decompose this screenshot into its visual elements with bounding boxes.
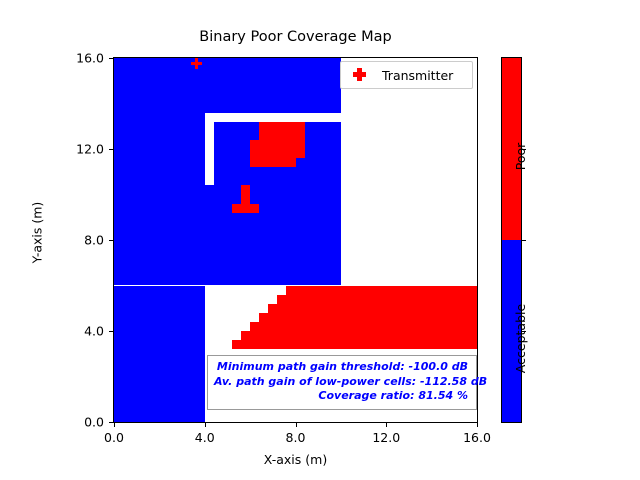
- x-axis-tick-label: 8.0: [286, 430, 306, 445]
- x-axis-tick-label: 4.0: [195, 430, 215, 445]
- coverage-cell-acceptable: [114, 113, 205, 186]
- y-axis-tick: [109, 58, 113, 59]
- colorbar-boundary-tick: [522, 240, 526, 241]
- coverage-cell-acceptable: [114, 286, 205, 423]
- y-axis-tick: [109, 331, 113, 332]
- coverage-cell-poor: [250, 140, 304, 158]
- x-axis-tick: [477, 423, 478, 427]
- x-axis-tick: [114, 423, 115, 427]
- coverage-cell-poor: [268, 304, 477, 313]
- annotation-line-threshold: Minimum path gain threshold: -100.0 dB: [214, 360, 468, 375]
- legend: Transmitter: [340, 61, 473, 89]
- annotation-line-coverage-ratio: Coverage ratio: 81.54 %: [214, 389, 468, 404]
- transmitter-marker: [191, 58, 202, 69]
- coverage-cell-poor: [241, 185, 250, 203]
- y-axis-tick: [109, 149, 113, 150]
- coverage-cell-acceptable: [114, 185, 341, 276]
- y-axis-tick-label: 4.0: [60, 324, 104, 339]
- y-axis-tick: [109, 422, 113, 423]
- coverage-cell-poor: [241, 331, 477, 340]
- coverage-cell-poor: [250, 322, 477, 331]
- x-axis-label: X-axis (m): [113, 452, 478, 467]
- page-title: Binary Poor Coverage Map: [113, 29, 478, 45]
- coverage-cell-acceptable: [114, 58, 341, 113]
- chart-figure: Binary Poor Coverage Map Transmitter Min…: [0, 0, 640, 480]
- y-axis-tick: [109, 240, 113, 241]
- coverage-cell-poor: [259, 122, 304, 140]
- coverage-cell-poor: [259, 313, 477, 322]
- y-axis-label: Y-axis (m): [30, 133, 45, 333]
- colorbar-tick-label: Acceptable: [513, 304, 528, 373]
- x-axis-tick-label: 0.0: [104, 430, 124, 445]
- x-axis-tick: [386, 423, 387, 427]
- coverage-cell-poor: [232, 340, 477, 349]
- x-axis-tick: [205, 423, 206, 427]
- coverage-cell-poor: [232, 204, 259, 213]
- legend-item-label: Transmitter: [382, 68, 453, 83]
- coverage-cell-poor: [250, 158, 295, 167]
- y-axis-tick-label: 0.0: [60, 415, 104, 430]
- coverage-cell-acceptable: [114, 276, 341, 285]
- coverage-cell-poor: [277, 295, 477, 304]
- y-axis-tick-label: 8.0: [60, 233, 104, 248]
- annotation-line-avg-gain: Av. path gain of low-power cells: -112.5…: [214, 375, 468, 390]
- y-axis-tick-label: 16.0: [60, 51, 104, 66]
- x-axis-tick-label: 12.0: [372, 430, 400, 445]
- x-axis-tick-label: 16.0: [463, 430, 491, 445]
- info-annotation-box: Minimum path gain threshold: -100.0 dB A…: [207, 355, 477, 410]
- colorbar-tick-label: Poor: [513, 143, 528, 171]
- y-axis-tick-label: 12.0: [60, 142, 104, 157]
- coverage-cell-poor: [286, 286, 477, 295]
- transmitter-plus-icon: [350, 65, 370, 85]
- x-axis-tick: [296, 423, 297, 427]
